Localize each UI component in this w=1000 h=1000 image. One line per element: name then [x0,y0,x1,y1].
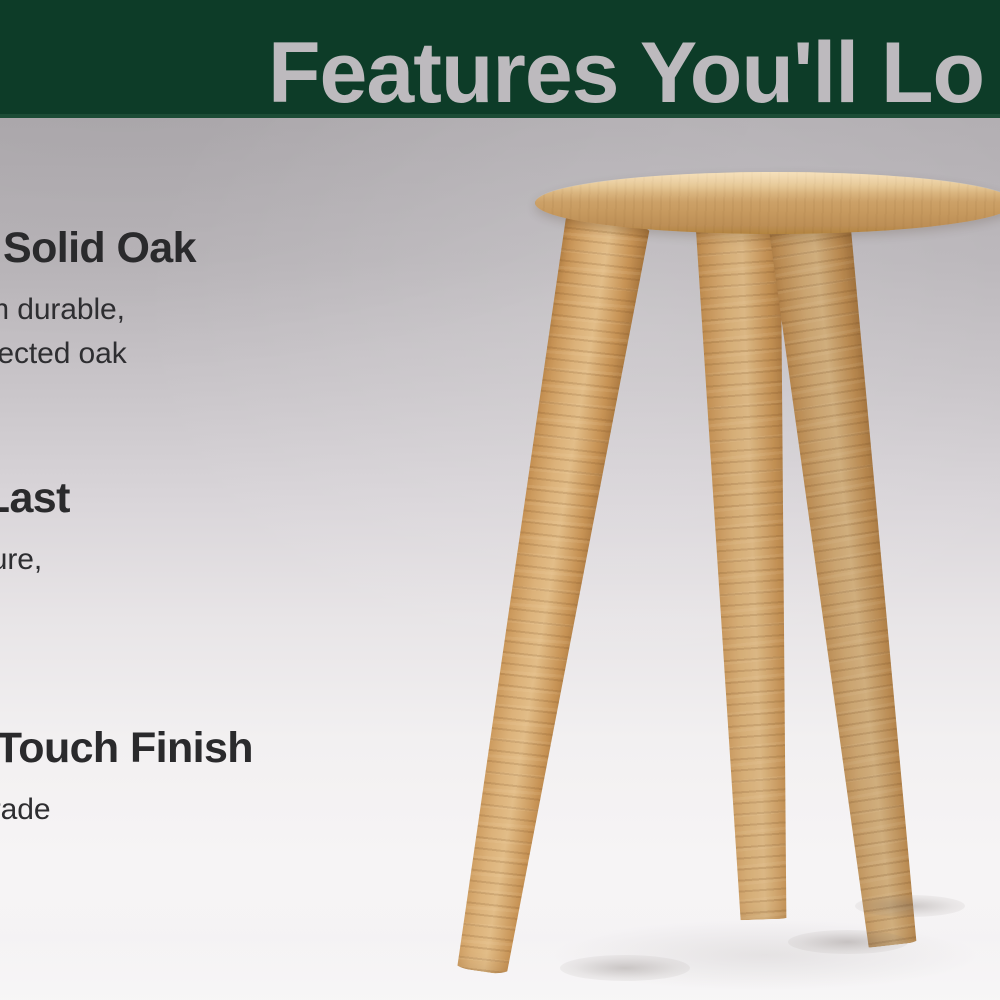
leg-contact-shadow [788,930,908,954]
feature-body-2: to endure, nably. [0,538,468,627]
feature-item-2: t to Last to endure, nably. [0,476,468,626]
feature-title-3: ural Touch Finish [0,726,468,772]
poster-canvas: able Solid Oak ed from durable, um-selec… [0,0,1000,1000]
feature-list: able Solid Oak ed from durable, um-selec… [0,118,470,1000]
leg-contact-shadow [560,955,690,981]
feature-title-1: able Solid Oak [0,226,468,272]
banner-title: Features You'll Lo [268,30,984,116]
feature-body-1: ed from durable, um-selected oak [0,288,468,377]
leg-contact-shadow [855,895,965,917]
banner-bottom-edge [0,114,1000,118]
feature-title-2: t to Last [0,476,468,522]
feature-body-3: high-grade wax oil [0,788,468,877]
header-banner: Features You'll Lo [0,0,1000,118]
feature-item-3: ural Touch Finish high-grade wax oil [0,726,468,876]
product-photo [500,150,1000,970]
feature-item-1: able Solid Oak ed from durable, um-selec… [0,226,468,376]
table-top-highlight [535,172,1000,202]
